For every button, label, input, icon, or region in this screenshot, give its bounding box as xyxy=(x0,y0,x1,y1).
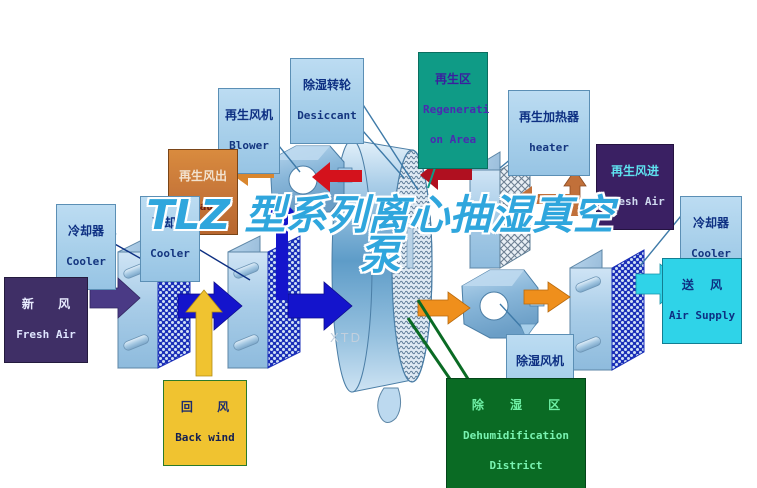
label-regen-fresh-air[interactable]: 再生风进 Fresh Air xyxy=(596,144,674,230)
diagram-canvas: 再生风机 Blower 除湿转轮 Desiccant 再生区 Regenerat… xyxy=(0,0,757,488)
label-cn: 再生风出 xyxy=(173,170,233,183)
label-dehumidification-district[interactable]: 除 湿 区 Dehumidification District xyxy=(446,378,586,488)
label-cn: 冷却器 xyxy=(685,217,737,230)
label-cn: 冷却器 xyxy=(61,225,111,238)
label-en: heater xyxy=(513,142,585,154)
watermark: XTD xyxy=(330,330,362,345)
label-en: Fresh Air xyxy=(601,196,669,208)
label-cn: 再生风机 xyxy=(223,109,275,122)
label-en: Cooler xyxy=(145,248,195,260)
label-en: Cooler xyxy=(61,256,111,268)
label-cn: 再生风进 xyxy=(601,165,669,178)
label-regeneration-area[interactable]: 再生区 Regenerati on Area xyxy=(418,52,488,169)
label-cn: 除湿转轮 xyxy=(295,79,359,92)
flow-regen-fresh-air-riser xyxy=(564,170,586,216)
label-air-supply[interactable]: 送 风 Air Supply xyxy=(662,258,742,344)
label-en-line2: District xyxy=(451,460,581,472)
label-back-wind[interactable]: 回 风 Back wind xyxy=(163,380,247,466)
label-en: Desiccant xyxy=(295,110,359,122)
label-cn: 除 湿 区 xyxy=(451,399,581,412)
label-cn: 冷却器 xyxy=(145,217,195,230)
label-en: Air Supply xyxy=(667,310,737,322)
label-en: Back wind xyxy=(168,432,242,444)
label-cn: 再生加热器 xyxy=(513,111,585,124)
label-cn: 回 风 xyxy=(168,401,242,414)
label-cn: 除湿风机 xyxy=(511,355,569,368)
label-desiccant-rotor[interactable]: 除湿转轮 Desiccant xyxy=(290,58,364,144)
label-regeneration-heater[interactable]: 再生加热器 heater xyxy=(508,90,590,176)
supply-cooler xyxy=(570,250,644,370)
label-cn: 新 风 xyxy=(9,298,83,311)
label-fresh-air[interactable]: 新 风 Fresh Air xyxy=(4,277,88,363)
label-en-line1: Regenerati xyxy=(423,104,483,116)
label-en-line2: on Area xyxy=(423,134,483,146)
label-cooler-2[interactable]: 冷却器 Cooler xyxy=(140,196,200,282)
label-cn: 再生区 xyxy=(423,73,483,86)
label-en-line1: Dehumidification xyxy=(451,430,581,442)
label-cn: 送 风 xyxy=(667,279,737,292)
label-en: Fresh Air xyxy=(9,329,83,341)
